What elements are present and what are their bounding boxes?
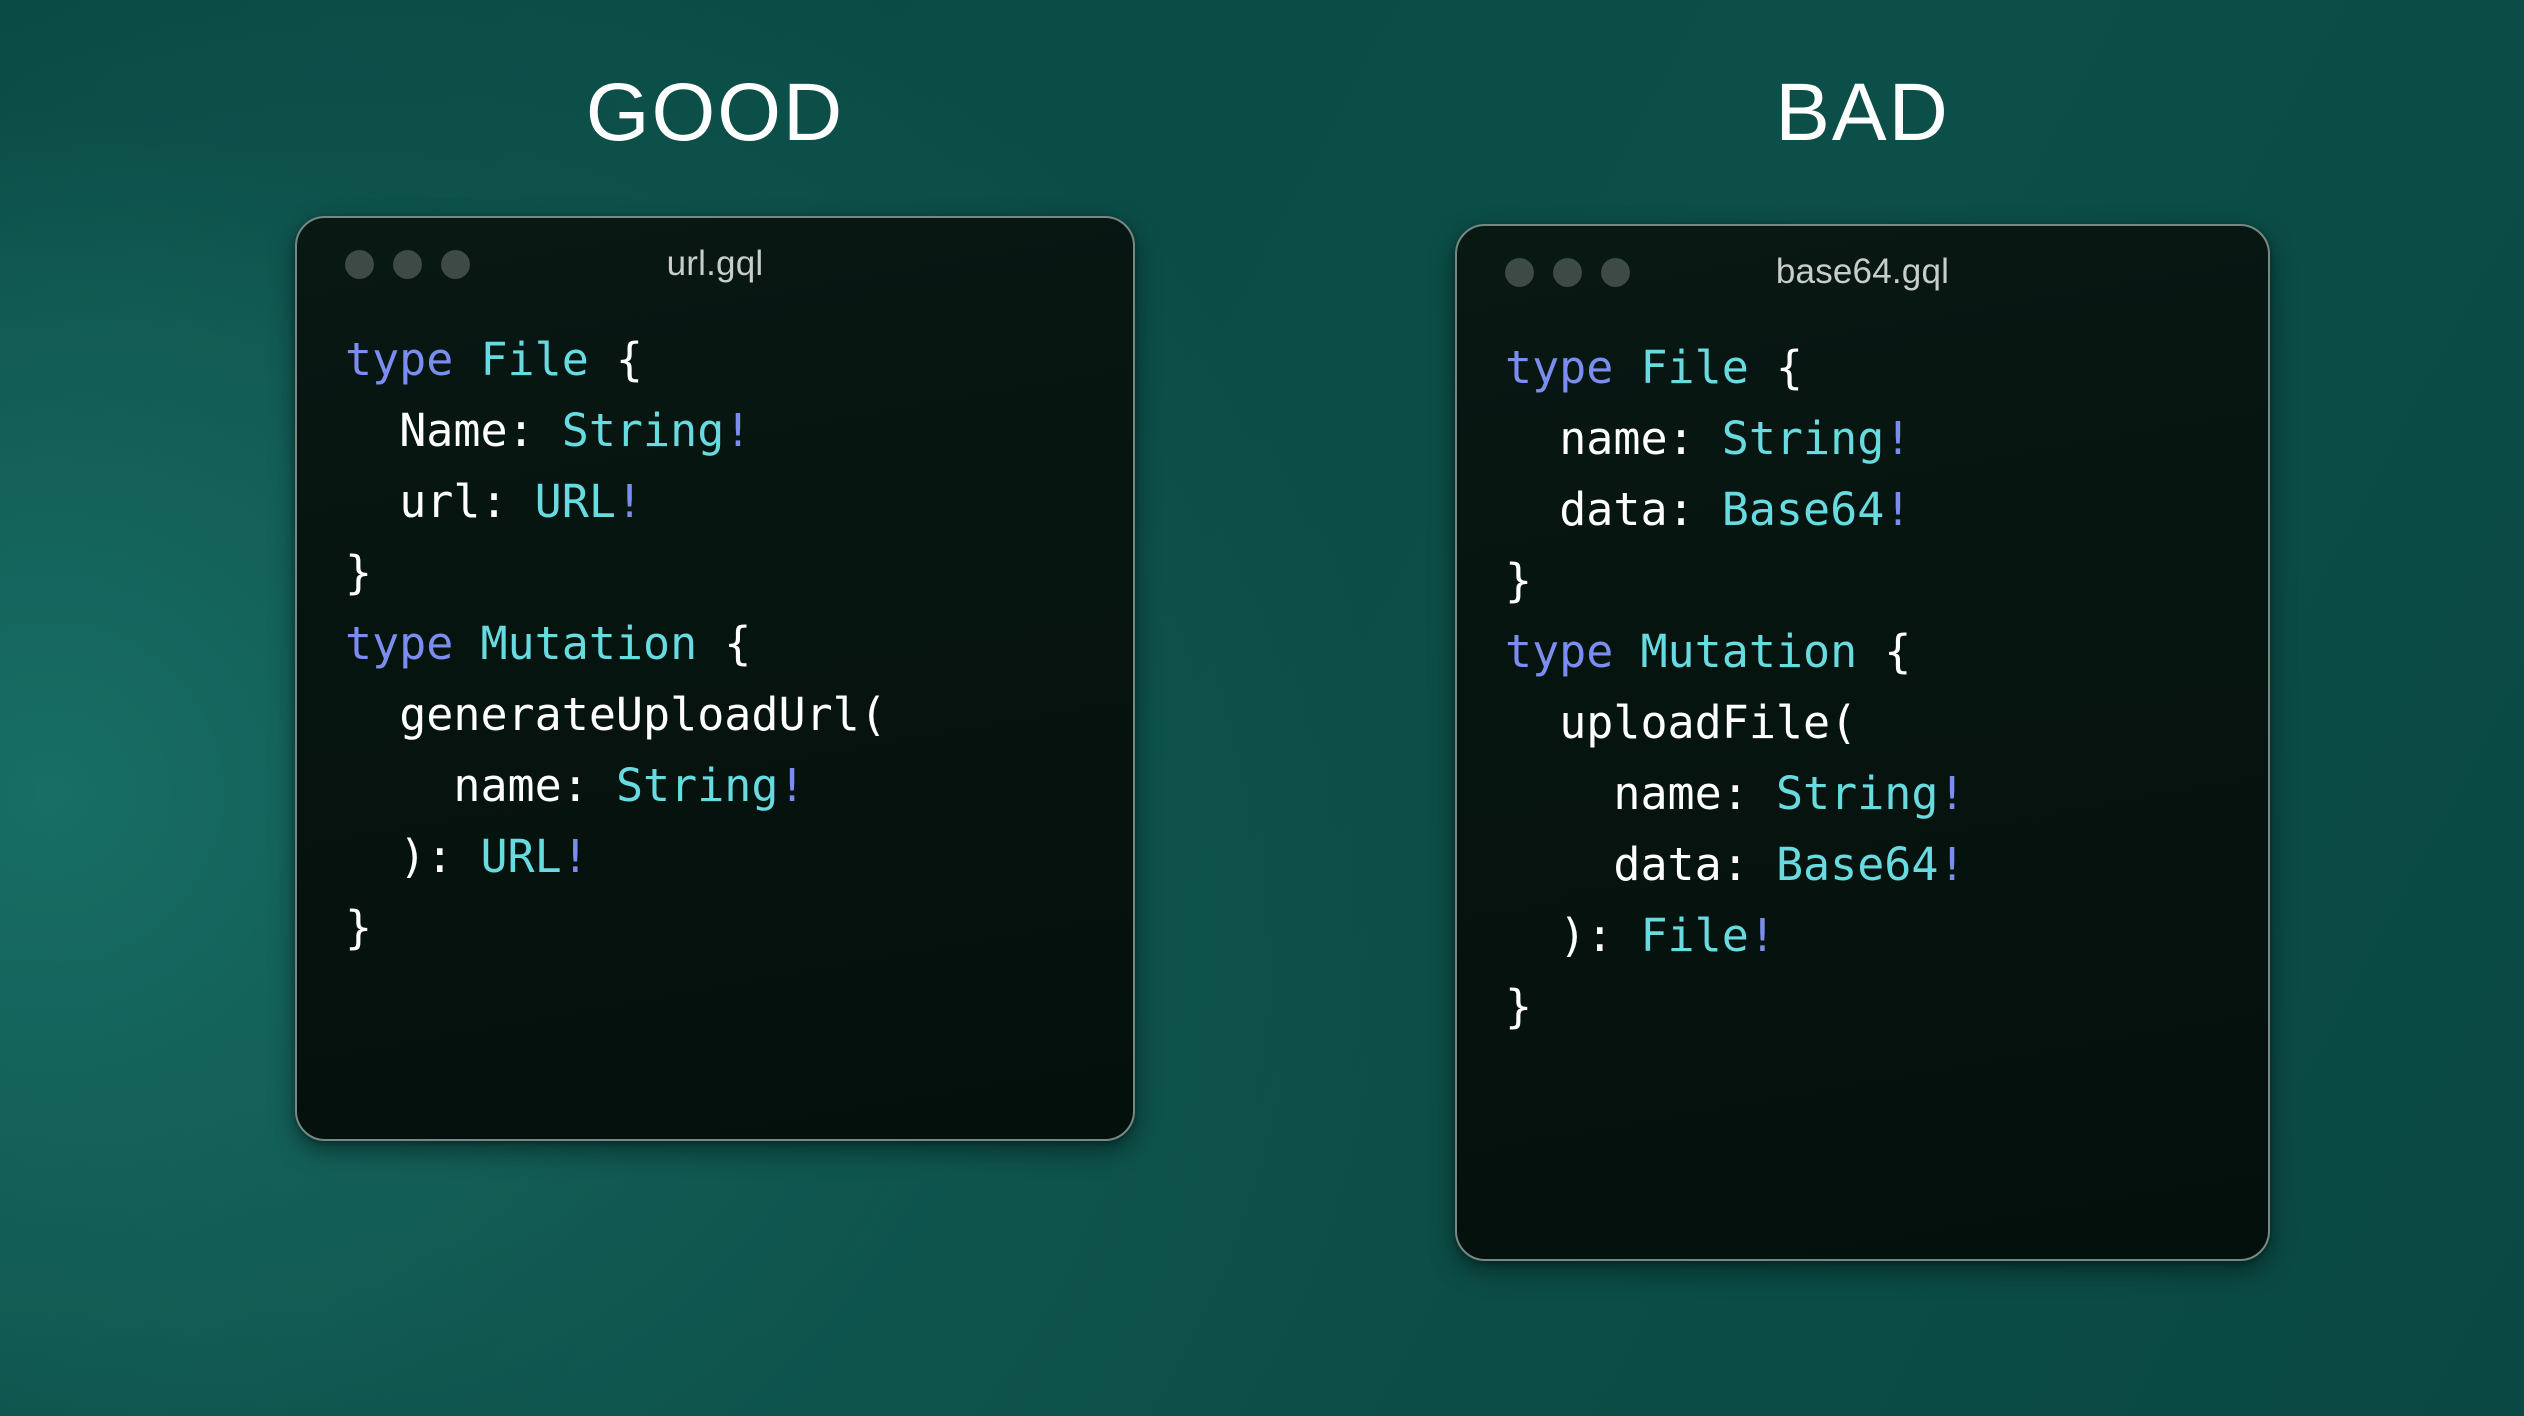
code-token-type: URL [480, 830, 561, 883]
code-token-bang: ! [1884, 483, 1911, 536]
code-token-punc [1505, 412, 1559, 465]
code-line: } [345, 537, 1133, 608]
code-line: type Mutation { [1505, 616, 2268, 687]
code-token-bang: ! [1939, 838, 1966, 891]
code-line: type File { [1505, 332, 2268, 403]
code-token-punc [1749, 838, 1776, 891]
code-token-id: name: [1559, 412, 1694, 465]
code-token-type: Base64 [1722, 483, 1885, 536]
code-token-type: Base64 [1776, 838, 1939, 891]
code-line: } [1505, 545, 2268, 616]
code-token-bang: ! [724, 404, 751, 457]
code-token-punc [453, 333, 480, 386]
code-token-punc [589, 759, 616, 812]
code-token-punc: } [1505, 554, 1532, 607]
dot-maximize-icon[interactable] [1601, 258, 1630, 287]
code-token-bang: ! [616, 475, 643, 528]
code-block-bad[interactable]: type File { name: String! data: Base64!}… [1457, 318, 2268, 1042]
code-block-good[interactable]: type File { Name: String! url: URL!}type… [297, 310, 1133, 963]
code-token-punc: { [1857, 625, 1911, 678]
code-line: type Mutation { [345, 608, 1133, 679]
code-token-type: File [1640, 341, 1748, 394]
code-line: Name: String! [345, 395, 1133, 466]
code-token-punc: { [1749, 341, 1803, 394]
dot-close-icon[interactable] [345, 250, 374, 279]
code-token-bang: ! [1939, 767, 1966, 820]
code-token-punc: ): [1505, 909, 1640, 962]
window-controls-good [345, 250, 470, 279]
code-token-punc: { [589, 333, 643, 386]
code-token-punc [1695, 483, 1722, 536]
code-card-bad: base64.gql type File { name: String! dat… [1455, 224, 2270, 1261]
code-line: name: String! [345, 750, 1133, 821]
code-token-punc [1613, 341, 1640, 394]
code-token-type: Mutation [1640, 625, 1857, 678]
dot-minimize-icon[interactable] [1553, 258, 1582, 287]
code-token-kw: type [345, 333, 453, 386]
code-line: uploadFile( [1505, 687, 2268, 758]
code-token-type: URL [535, 475, 616, 528]
code-token-punc [1505, 767, 1613, 820]
dot-minimize-icon[interactable] [393, 250, 422, 279]
panel-good: GOOD url.gql type File { Name: String! u… [295, 72, 1135, 1202]
code-line: ): File! [1505, 900, 2268, 971]
code-token-punc: ): [345, 830, 480, 883]
panel-bad: BAD base64.gql type File { name: String!… [1455, 72, 2270, 1202]
code-line: name: String! [1505, 758, 2268, 829]
code-line: name: String! [1505, 403, 2268, 474]
code-token-type: String [1722, 412, 1885, 465]
code-token-punc [1749, 767, 1776, 820]
code-line: data: Base64! [1505, 829, 2268, 900]
dot-close-icon[interactable] [1505, 258, 1534, 287]
code-line: ): URL! [345, 821, 1133, 892]
panel-title-bad: BAD [1455, 72, 2270, 154]
code-token-type: String [1776, 767, 1939, 820]
code-line: url: URL! [345, 466, 1133, 537]
code-token-punc: } [345, 901, 372, 954]
code-token-punc: { [697, 617, 751, 670]
code-token-bang: ! [1749, 909, 1776, 962]
code-token-punc [345, 475, 399, 528]
code-token-punc [1613, 625, 1640, 678]
code-token-bang: ! [562, 830, 589, 883]
code-token-type: String [616, 759, 779, 812]
card-header-bad: base64.gql [1457, 226, 2268, 318]
code-token-type: File [1640, 909, 1748, 962]
code-token-kw: type [1505, 625, 1613, 678]
card-header-good: url.gql [297, 218, 1133, 310]
panel-title-good: GOOD [295, 72, 1135, 154]
code-token-id: name: [453, 759, 588, 812]
code-token-id: uploadFile( [1559, 696, 1857, 749]
code-token-punc [345, 404, 399, 457]
code-token-id: data: [1613, 838, 1748, 891]
code-token-punc [1505, 696, 1559, 749]
code-token-id: name: [1613, 767, 1748, 820]
code-token-id: url: [399, 475, 507, 528]
code-token-punc [1505, 483, 1559, 536]
code-token-id: Name: [399, 404, 534, 457]
code-token-id: data: [1559, 483, 1694, 536]
code-token-kw: type [1505, 341, 1613, 394]
code-token-type: String [562, 404, 725, 457]
code-token-punc [453, 617, 480, 670]
code-token-kw: type [345, 617, 453, 670]
code-line: } [345, 892, 1133, 963]
code-token-type: Mutation [480, 617, 697, 670]
code-card-good: url.gql type File { Name: String! url: U… [295, 216, 1135, 1141]
code-line: generateUploadUrl( [345, 679, 1133, 750]
code-token-punc [508, 475, 535, 528]
code-token-bang: ! [779, 759, 806, 812]
code-token-punc [535, 404, 562, 457]
code-line: type File { [345, 324, 1133, 395]
code-line: } [1505, 971, 2268, 1042]
code-token-punc: } [1505, 980, 1532, 1033]
dot-maximize-icon[interactable] [441, 250, 470, 279]
code-token-punc: } [345, 546, 372, 599]
comparison-stage: GOOD url.gql type File { Name: String! u… [0, 0, 2524, 1416]
code-token-id: generateUploadUrl( [399, 688, 887, 741]
code-token-punc [1695, 412, 1722, 465]
code-line: data: Base64! [1505, 474, 2268, 545]
code-token-punc [345, 688, 399, 741]
code-token-punc [1505, 838, 1613, 891]
code-token-punc [345, 759, 453, 812]
window-controls-bad [1505, 258, 1630, 287]
code-token-type: File [480, 333, 588, 386]
code-token-bang: ! [1884, 412, 1911, 465]
